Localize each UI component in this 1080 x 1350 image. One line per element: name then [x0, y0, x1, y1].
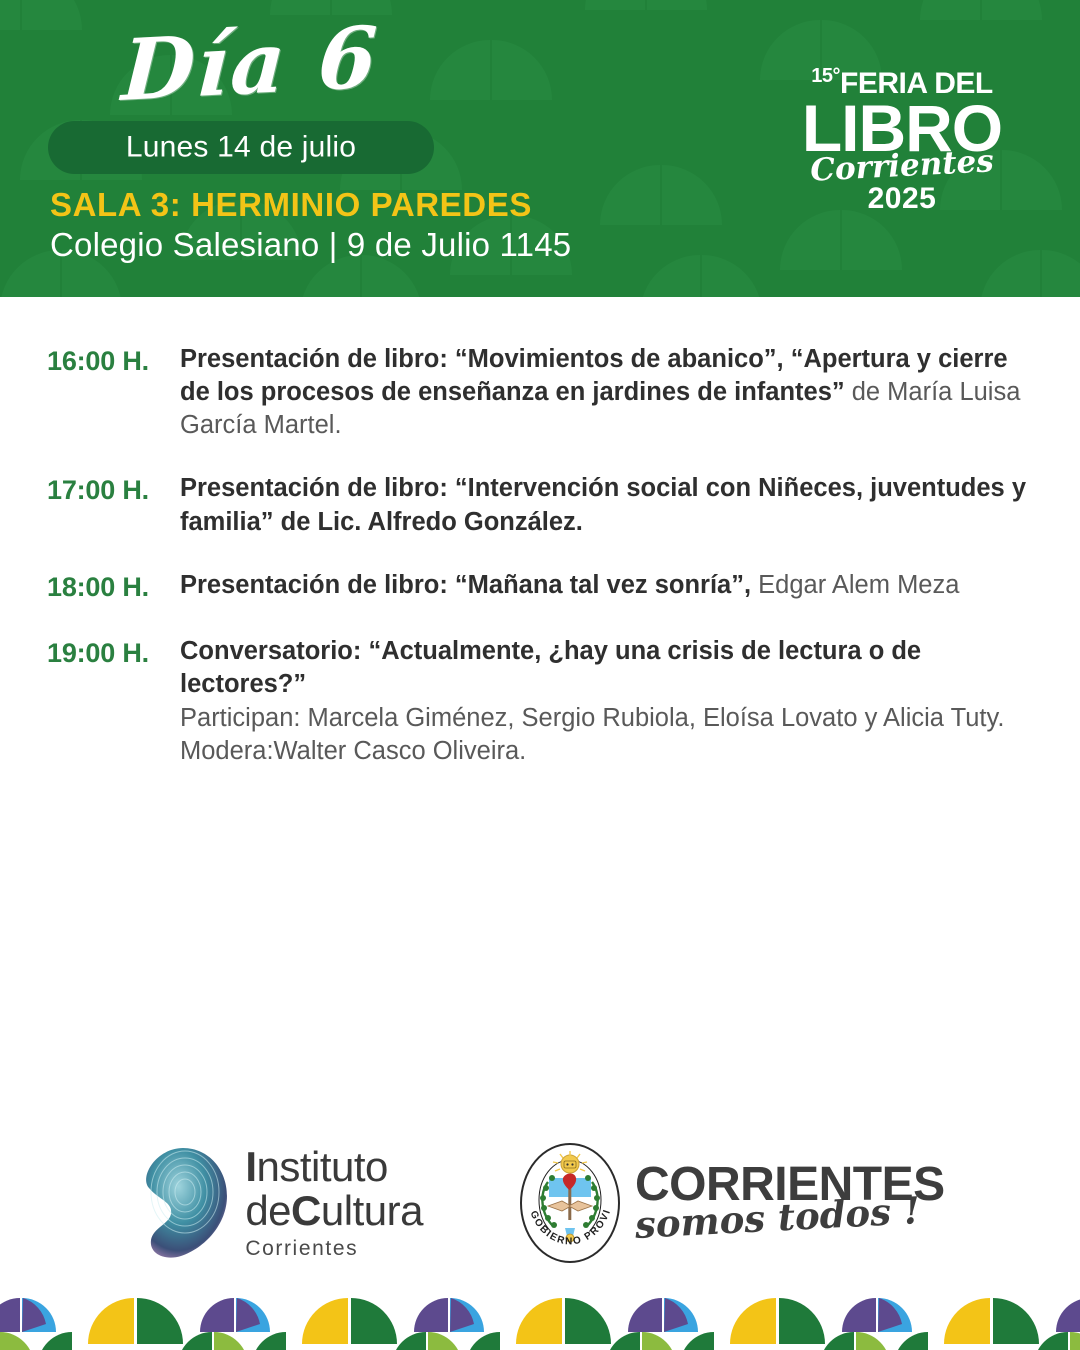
schedule-description: Presentación de libro: “Movimientos de a…	[180, 343, 1040, 442]
schedule-description: Conversatorio: “Actualmente, ¿hay una cr…	[180, 635, 1040, 768]
instituto-line2-rest: ultura	[321, 1187, 423, 1234]
instituto-line2-initial: C	[291, 1187, 321, 1234]
poster-root: Día 6 Lunes 14 de julio SALA 3: HERMINIO…	[0, 0, 1080, 1350]
schedule-row: 17:00 H. Presentación de libro: “Interve…	[47, 472, 1040, 538]
fair-logo: 15°FERIA DEL LIBRO Corrientes 2025	[768, 66, 1036, 214]
schedule-time: 16:00 H.	[47, 343, 180, 380]
poster-header: Día 6 Lunes 14 de julio SALA 3: HERMINIO…	[0, 0, 1080, 297]
schedule-description-bold: Conversatorio: “Actualmente, ¿hay una cr…	[180, 637, 921, 698]
instituto-line1: Instituto	[245, 1145, 423, 1189]
schedule-description: Presentación de libro: “Mañana tal vez s…	[180, 569, 1040, 602]
room-address: Colegio Salesiano | 9 de Julio 1145	[50, 226, 571, 264]
instituto-line2-de: de	[245, 1187, 291, 1234]
day-date-label: Lunes 14 de julio	[48, 130, 434, 164]
schedule-time: 17:00 H.	[47, 472, 180, 509]
schedule-row: 16:00 H. Presentación de libro: “Movimie…	[47, 343, 1040, 442]
instituto-line2: deCultura	[245, 1189, 423, 1233]
footer-logos: Instituto deCultura Corrientes	[0, 1120, 1080, 1285]
cultura-drop-icon	[135, 1144, 231, 1262]
corrientes-wordmark: CORRIENTES somos todos !	[635, 1161, 945, 1244]
schedule-description-bold: Presentación de libro: “Intervención soc…	[180, 474, 1026, 535]
instituto-de-cultura-logo: Instituto deCultura Corrientes	[135, 1144, 423, 1262]
schedule-row: 19:00 H. Conversatorio: “Actualmente, ¿h…	[47, 635, 1040, 768]
gobierno-corrientes-logo: GOBIERNO PROVINCIAL CORRIENTES somos tod…	[519, 1142, 945, 1264]
schedule-description: Presentación de libro: “Intervención soc…	[180, 472, 1040, 538]
schedule-description-detail: Participan: Marcela Giménez, Sergio Rubi…	[180, 702, 1040, 768]
schedule-time: 18:00 H.	[47, 569, 180, 606]
instituto-line1-rest: nstituto	[257, 1143, 388, 1190]
instituto-line1-initial: I	[245, 1143, 256, 1190]
schedule-description-bold: Presentación de libro: “Mañana tal vez s…	[180, 571, 751, 599]
room-title: SALA 3: HERMINIO PAREDES	[50, 186, 532, 224]
bottom-decorative-strip	[0, 1292, 1080, 1350]
instituto-line3: Corrientes	[245, 1238, 423, 1260]
schedule-row: 18:00 H. Presentación de libro: “Mañana …	[47, 569, 1040, 606]
day-date-pill: Lunes 14 de julio	[48, 121, 434, 174]
fair-logo-year: 2025	[768, 184, 1036, 214]
schedule-description-normal: Edgar Alem Meza	[751, 571, 959, 599]
day-title: Día 6	[120, 15, 381, 113]
schedule-time: 19:00 H.	[47, 635, 180, 672]
gobierno-provincial-seal-icon: GOBIERNO PROVINCIAL	[519, 1142, 621, 1264]
schedule-list: 16:00 H. Presentación de libro: “Movimie…	[0, 297, 1080, 798]
instituto-wordmark: Instituto deCultura Corrientes	[245, 1145, 423, 1260]
bottom-strip-pattern	[0, 1292, 1080, 1350]
fair-edition: 15°	[811, 65, 840, 87]
